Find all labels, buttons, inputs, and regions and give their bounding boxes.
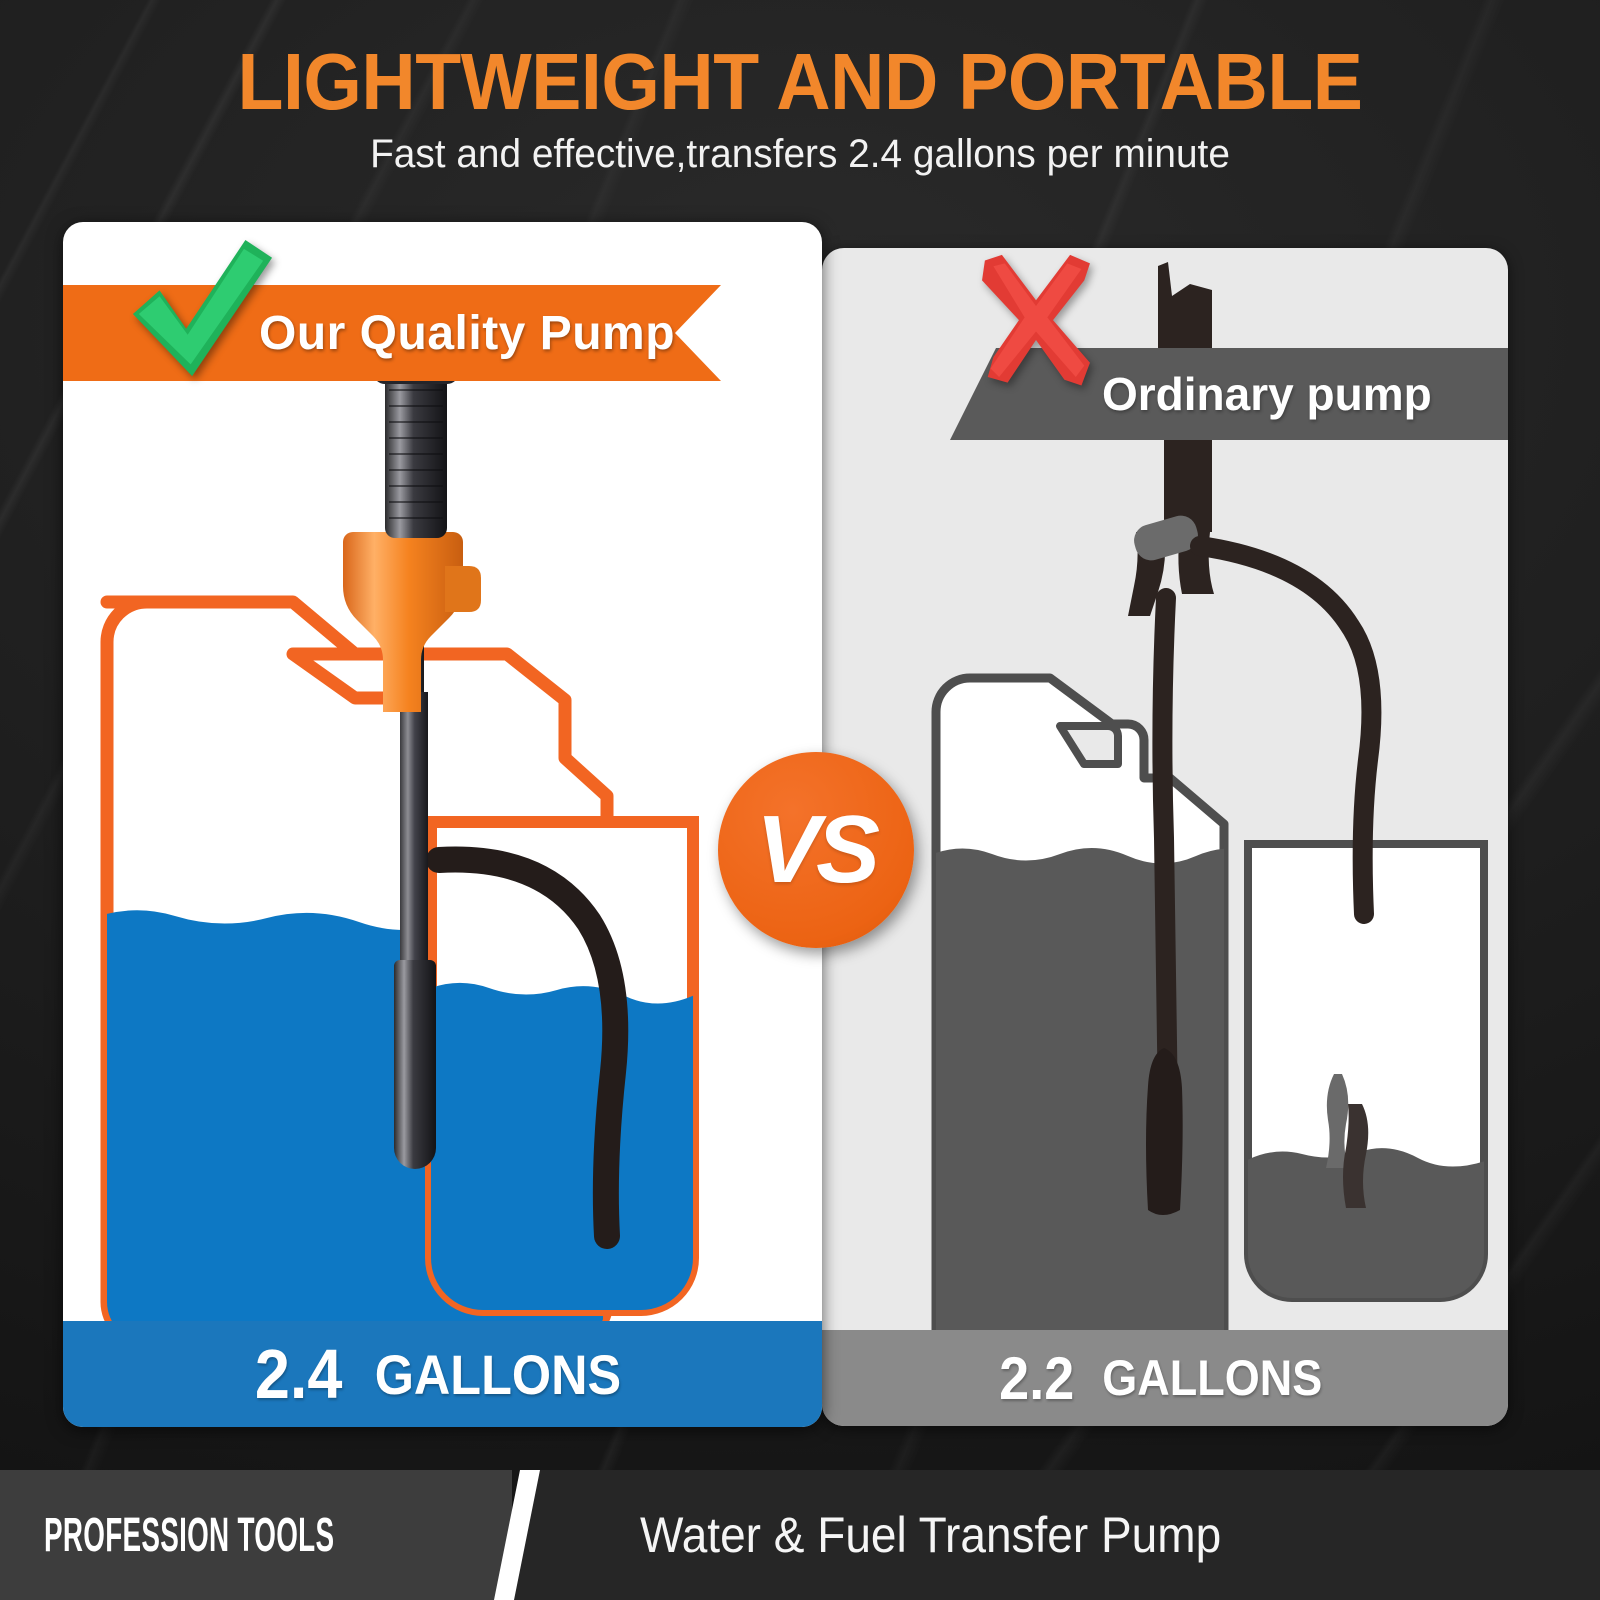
page-title: LIGHTWEIGHT AND PORTABLE xyxy=(48,36,1552,128)
quality-value-unit: GALLONS xyxy=(375,1342,621,1407)
comparison-panel-ordinary: Ordinary pump 2.2 GALLONS xyxy=(822,248,1508,1426)
quality-pump-illustration xyxy=(63,222,822,1427)
vs-badge: VS xyxy=(718,752,914,948)
ordinary-value-unit: GALLONS xyxy=(1103,1349,1323,1407)
green-check-icon xyxy=(125,240,277,388)
quality-value-bar: 2.4 GALLONS xyxy=(63,1321,822,1427)
ordinary-value-number: 2.2 xyxy=(999,1344,1074,1413)
footer-bar: PROFESSION TOOLS Water & Fuel Transfer P… xyxy=(0,1470,1600,1600)
page-subtitle: Fast and effective,transfers 2.4 gallons… xyxy=(24,132,1576,177)
red-cross-icon xyxy=(962,252,1110,394)
comparison-panel-quality: Our Quality Pump 2.4 GALLONS xyxy=(63,222,822,1427)
quality-value-number: 2.4 xyxy=(255,1334,343,1414)
brand-name: PROFESSION TOOLS xyxy=(44,1470,334,1600)
product-tagline: Water & Fuel Transfer Pump xyxy=(640,1470,1221,1600)
ordinary-value-bar: 2.2 GALLONS xyxy=(822,1330,1508,1426)
vs-label: VS xyxy=(756,795,876,905)
